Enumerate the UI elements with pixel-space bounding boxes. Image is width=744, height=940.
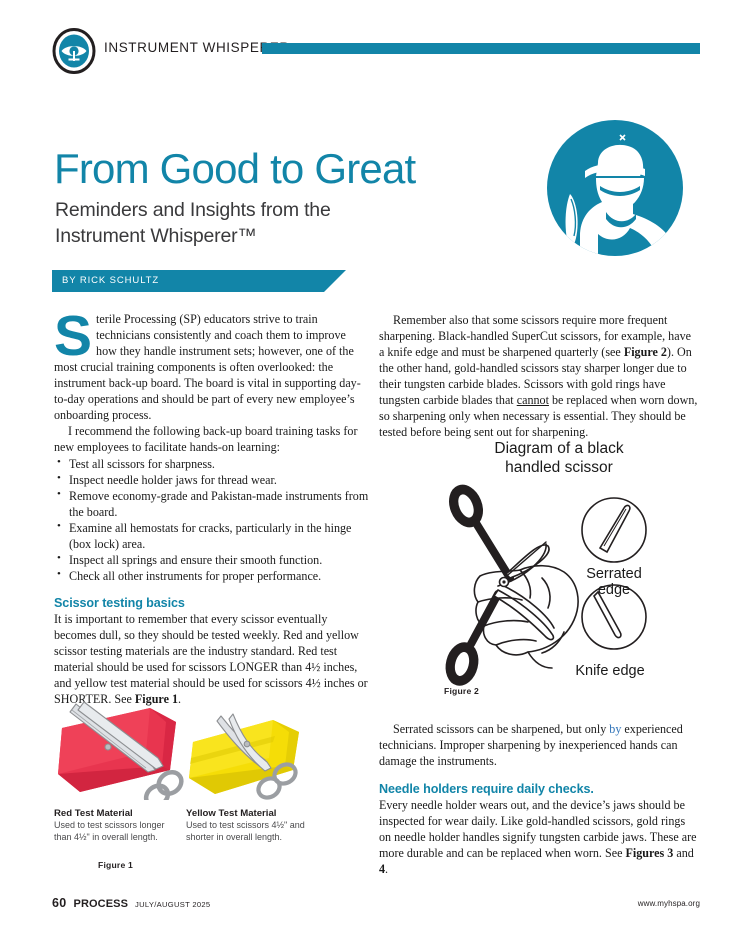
figure-1-caption-red: Red Test Material Used to test scissors … [54,808,180,843]
list-item: Inspect all springs and ensure their smo… [54,552,369,568]
figure-1-caption-yellow: Yellow Test Material Used to test scisso… [186,808,306,843]
issue-date: JULY/AUGUST 2025 [135,900,210,909]
byline-bar: BY RICK SCHULTZ [52,270,346,292]
article-column-right-lower: Serrated scissors can be sharpened, but … [379,722,698,878]
figure-1-label: Figure 1 [98,860,133,870]
byline-text: BY RICK SCHULTZ [62,275,159,286]
figure-2: Diagram of a black handled scissor [424,440,694,705]
figure-1-images [54,700,374,800]
yellow-test-material-photo [187,708,312,809]
list-item: Remove economy-grade and Pakistan-made i… [54,488,369,520]
paragraph-sharpening: Remember also that some scissors require… [379,313,698,441]
paragraph-needle-holders-c: . [385,862,388,876]
paragraph-needle-holders-b: and [673,846,694,860]
surgeon-silhouette-icon [540,116,690,266]
list-item: Test all scissors for sharpness. [54,456,369,472]
figure-2-title-line-2: handled scissor [454,459,664,478]
emphasis-cannot: cannot [517,393,549,407]
page-title: From Good to Great [54,148,524,190]
serrated-edge-callout [582,498,646,562]
publication-name: PROCESS [74,898,129,910]
figure-1-captions: Red Test Material Used to test scissors … [54,808,374,862]
section-heading-needle-holders: Needle holders require daily checks. [379,781,698,798]
figure-2-reference: Figure 2 [624,345,667,359]
page-subtitle: Reminders and Insights from the Instrume… [55,198,475,249]
list-item: Check all other instruments for proper p… [54,568,369,584]
subtitle-line-2: Instrument Whisperer™ [55,224,475,250]
article-column-left: Sterile Processing (SP) educators strive… [54,312,369,708]
figure-1: Red Test Material Used to test scissors … [54,700,374,862]
figure-1-caption-yellow-body: Used to test scissors 4½" and shorter in… [186,820,306,843]
figures-3-reference: Figures 3 [625,846,673,860]
section-heading-scissor-testing: Scissor testing basics [54,595,369,612]
black-handled-scissor-diagram: Serrated edge Knife edge [424,482,694,687]
paragraph-intro-text: terile Processing (SP) educators strive … [54,312,361,422]
page-number: 60 [52,896,67,910]
figure-1-caption-yellow-title: Yellow Test Material [186,808,306,819]
footer-left: 60 PROCESS JULY/AUGUST 2025 [52,896,700,910]
training-task-list: Test all scissors for sharpness. Inspect… [54,456,369,585]
website-url: www.myhspa.org [638,899,700,908]
red-test-material-photo [54,700,189,805]
article-column-right: Remember also that some scissors require… [379,313,698,441]
figure-2-label: Figure 2 [444,686,479,696]
eye-icon [52,28,96,74]
figure-1-caption-red-title: Red Test Material [54,808,180,819]
header-rule [262,43,700,54]
figure-2-title-line-1: Diagram of a black [454,440,664,459]
knife-edge-label: Knife edge [575,663,644,679]
paragraph-scissor-testing: It is important to remember that every s… [54,612,369,708]
list-item: Inspect needle holder jaws for thread we… [54,472,369,488]
paragraph-serrated-a: Serrated scissors can be sharpened, but … [393,722,609,736]
paragraph-needle-holders: Every needle holder wears out, and the d… [379,798,698,878]
serrated-edge-label-line-2: edge [598,582,630,598]
page-footer: 60 PROCESS JULY/AUGUST 2025 www.myhspa.o… [52,896,700,912]
serrated-edge-label-line-1: Serrated [586,566,642,582]
paragraph-scissor-testing-a: It is important to remember that every s… [54,612,368,706]
list-item: Examine all hemostats for cracks, partic… [54,520,369,552]
drop-cap: S [54,314,92,358]
paragraph-intro: Sterile Processing (SP) educators strive… [54,312,369,424]
figure-2-title: Diagram of a black handled scissor [454,440,664,477]
paragraph-recommend: I recommend the following back-up board … [54,424,369,456]
subtitle-line-1: Reminders and Insights from the [55,198,475,224]
page-header: INSTRUMENT WHISPERER [52,28,700,74]
figure-1-caption-red-body: Used to test scissors longer than 4½" in… [54,820,180,843]
emphasis-by: by [609,722,621,736]
paragraph-serrated: Serrated scissors can be sharpened, but … [379,722,698,770]
magazine-page: INSTRUMENT WHISPERER [0,0,744,940]
